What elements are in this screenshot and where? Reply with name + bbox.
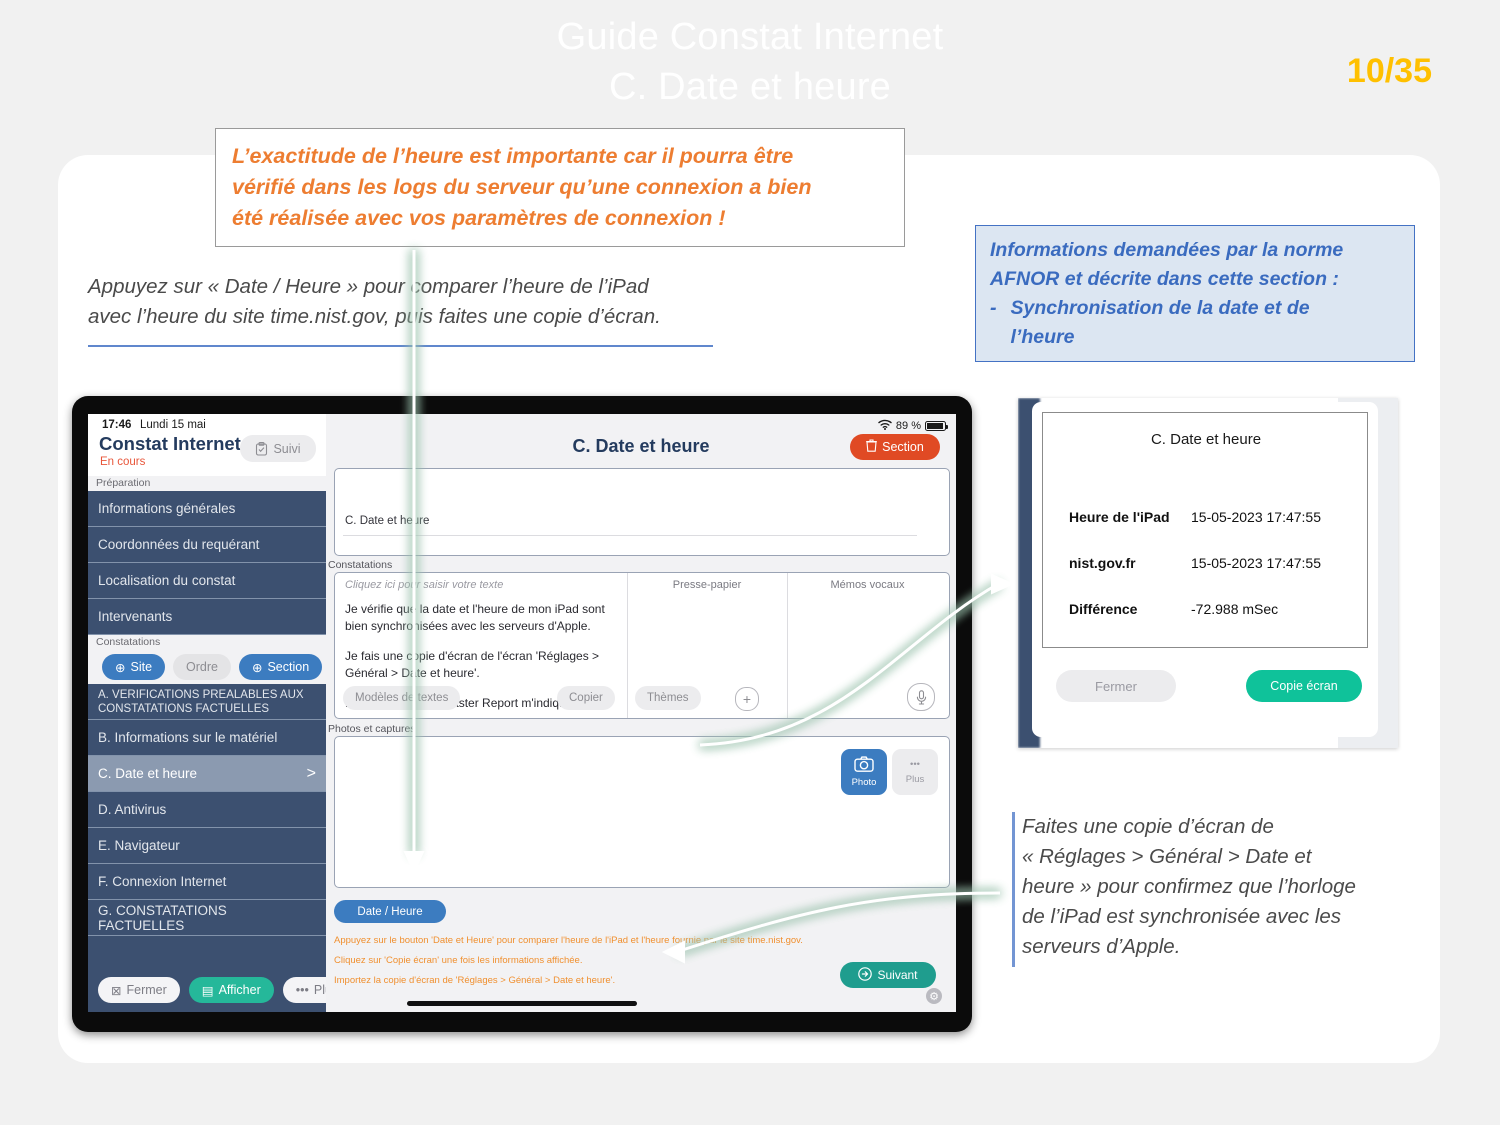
afnor-bullet-line-2: l’heure [1011,323,1310,352]
add-site-label: Site [130,660,152,674]
constatations-paragraph-2: Je fais une copie d'écran de l'écran 'Ré… [345,648,620,682]
afficher-label: Afficher [219,983,261,997]
modeles-textes-button[interactable]: Modèles de textes [343,686,460,710]
hint-line-1: Appuyez sur le bouton 'Date et Heure' po… [334,935,934,946]
trash-icon [866,439,877,455]
sidebar-item-label: E. Navigateur [98,838,180,853]
status-indicators: 89 % [878,419,946,433]
page-number-badge: 10/35 [1347,52,1432,91]
right-instruction-line-4: de l’iPad est synchronisée avec les [1022,902,1422,932]
sidebar-item-label: F. Connexion Internet [98,874,226,889]
column-divider [627,573,628,718]
sidebar-item-c-date-et-heure[interactable]: C. Date et heure > [88,756,326,792]
sidebar-item-localisation-constat[interactable]: Localisation du constat [88,563,326,599]
sidebar-header: 17:46 Lundi 15 mai Constat Internet En c… [88,414,326,476]
sidebar-item-b-materiel[interactable]: B. Informations sur le matériel [88,720,326,756]
app-title: Constat Internet [99,433,241,455]
section-title-field-box[interactable]: C. Date et heure [334,468,950,556]
suivant-label: Suivant [877,968,917,982]
sidebar-item-f-connexion-internet[interactable]: F. Connexion Internet [88,864,326,900]
app-status-label: En cours [100,456,145,468]
text-placeholder[interactable]: Cliquez ici pour saisir votre texte [345,579,503,591]
afnor-info-box: Informations demandées par la norme AFNO… [975,225,1415,362]
status-date: Lundi 15 mai [140,419,206,431]
sidebar-item-informations-generales[interactable]: Informations générales [88,491,326,527]
sidebar-item-label: D. Antivirus [98,802,166,817]
warning-callout-box: L’exactitude de l’heure est importante c… [215,128,905,247]
sidebar-item-e-navigateur[interactable]: E. Navigateur [88,828,326,864]
constatations-label: Constatations [328,559,392,571]
afnor-bullet: - Synchronisation de la date et de l’heu… [990,294,1400,352]
dialog-content-frame: C. Date et heure Heure de l'iPad 15-05-2… [1042,412,1368,648]
ipad-main-pane: 89 % C. Date et heure Section C. Date et… [326,414,956,1012]
photos-captures-label: Photos et captures [328,723,416,735]
themes-button[interactable]: Thèmes [635,686,701,710]
suivant-button[interactable]: Suivant [840,962,936,988]
add-clipboard-icon[interactable]: + [735,687,759,711]
ipad-sidebar: 17:46 Lundi 15 mai Constat Internet En c… [88,414,326,1012]
left-instruction-text: Appuyez sur « Date / Heure » pour compar… [88,272,738,332]
date-heure-button[interactable]: Date / Heure [334,900,446,923]
delete-section-button[interactable]: Section [850,434,940,460]
afnor-line-2: AFNOR et décrite dans cette section : [990,265,1400,294]
sidebar-item-intervenants[interactable]: Intervenants [88,599,326,635]
right-instruction-line-2: « Réglages > Général > Date et [1022,842,1422,872]
constatations-paragraph-1: Je vérifie que la date et l'heure de mon… [345,601,620,635]
afficher-button[interactable]: ▤ Afficher [189,977,274,1003]
status-time: 17:46 [102,419,131,431]
right-instruction-line-5: serveurs d’Apple. [1022,932,1422,962]
ordre-label: Ordre [186,660,218,674]
sidebar-item-label: C. Date et heure [98,766,197,781]
plus-circle-icon: ⊕ [252,660,262,675]
dialog-row-value: 15-05-2023 17:47:55 [1191,509,1321,525]
camera-icon [854,756,874,775]
sidebar-section-preparation: Préparation [88,476,326,491]
dialog-title: C. Date et heure [1043,431,1369,448]
plus-circle-icon: ⊕ [115,660,125,675]
field-underline [343,535,917,536]
dialog-copy-screen-button[interactable]: Copie écran [1246,670,1362,702]
afnor-line-1: Informations demandées par la norme [990,236,1400,265]
left-instruction-line-2: avec l’heure du site time.nist.gov, puis… [88,302,738,332]
ipad-device-frame: 17:46 Lundi 15 mai Constat Internet En c… [72,396,972,1032]
page-title-line1: Guide Constat Internet [557,16,944,58]
suivi-label: Suivi [273,442,300,456]
right-instruction-text: Faites une copie d’écran de « Réglages >… [1022,812,1422,962]
date-time-dialog: C. Date et heure Heure de l'iPad 15-05-2… [1032,402,1378,737]
battery-icon [925,421,946,431]
sidebar-item-g-constatations-factuelles[interactable]: G. CONSTATATIONS FACTUELLES [88,900,326,936]
warning-line-1: L’exactitude de l’heure est importante c… [232,141,888,172]
add-site-button[interactable]: ⊕ Site [102,654,165,680]
right-instruction-accent-bar [1012,812,1015,967]
afnor-bullet-dash: - [990,294,997,352]
dialog-screenshot: C. Date et heure Heure de l'iPad 15-05-2… [1018,398,1398,748]
fermer-label: Fermer [126,983,166,997]
suivi-button[interactable]: Suivi [240,435,316,462]
close-box-icon: ⊠ [111,983,121,998]
photo-button-label: Photo [852,777,877,788]
page-header: Guide Constat Internet C. Date et heure … [0,4,1500,119]
sidebar-toolbar: ⊕ Site Ordre ⊕ Section [88,650,326,684]
delete-section-label: Section [882,440,924,454]
chevron-right-icon: > [307,765,316,783]
sidebar-item-coordonnees-requerant[interactable]: Coordonnées du requérant [88,527,326,563]
page-title-line2: C. Date et heure [0,62,1500,112]
photos-plus-label: Plus [906,774,924,785]
dialog-row-key: Différence [1069,601,1137,617]
page-title: Guide Constat Internet C. Date et heure [0,12,1500,112]
microphone-icon[interactable] [907,683,935,711]
warning-line-2: vérifié dans les logs du serveur qu’une … [232,172,888,203]
column-divider [787,573,788,718]
right-instruction-line-3: heure » pour confirmez que l’horloge [1022,872,1422,902]
ellipsis-icon: ••• [296,983,309,997]
document-icon: ▤ [202,983,214,998]
clipboard-icon [255,442,268,456]
memos-vocaux-header: Mémos vocaux [787,579,948,591]
left-instruction-underline [88,345,713,347]
right-instruction-line-1: Faites une copie d’écran de [1022,812,1422,842]
sidebar-item-d-antivirus[interactable]: D. Antivirus [88,792,326,828]
sidebar-section-constatations: Constatations [88,635,326,650]
warning-line-3: été réalisée avec vos paramètres de conn… [232,203,888,234]
sidebar-item-label: B. Informations sur le matériel [98,730,277,745]
battery-percent: 89 % [896,420,921,432]
ipad-screen: 17:46 Lundi 15 mai Constat Internet En c… [88,414,956,1012]
dialog-row-value: 15-05-2023 17:47:55 [1191,555,1321,571]
dialog-row-key: nist.gov.fr [1069,555,1136,571]
presse-papier-header: Presse-papier [627,579,787,591]
afnor-bullet-line-1: Synchronisation de la date et de [1011,294,1310,323]
gear-icon[interactable]: ⚙ [926,988,942,1004]
photo-button[interactable]: Photo [841,749,887,795]
photos-captures-box: Photo ••• Plus [334,736,950,888]
dialog-close-button[interactable]: Fermer [1056,670,1176,702]
ordre-button[interactable]: Ordre [173,654,231,680]
sidebar-item-a-verifications[interactable]: A. VERIFICATIONS PREALABLES AUX CONSTATA… [88,684,326,720]
add-section-label: Section [267,660,309,674]
fermer-button[interactable]: ⊠ Fermer [98,977,180,1003]
photos-plus-button[interactable]: ••• Plus [892,749,938,795]
sidebar-bottom-bar: ⊠ Fermer ▤ Afficher ••• Plus [88,968,326,1012]
section-title-field-label: C. Date et heure [345,515,429,527]
arrow-right-circle-icon [858,967,872,984]
home-indicator [407,1001,637,1006]
left-instruction-line-1: Appuyez sur « Date / Heure » pour compar… [88,272,738,302]
add-section-button[interactable]: ⊕ Section [239,654,322,680]
ellipsis-icon: ••• [910,759,920,770]
dialog-row-value: -72.988 mSec [1191,601,1278,617]
sidebar-item-label: G. CONSTATATIONS FACTUELLES [98,903,316,933]
dialog-row-key: Heure de l'iPad [1069,509,1170,525]
copier-button[interactable]: Copier [557,686,615,710]
sidebar-item-label: A. VERIFICATIONS PREALABLES AUX CONSTATA… [98,688,316,716]
constatations-box: Cliquez ici pour saisir votre texte Pres… [334,572,950,719]
wifi-icon [878,419,892,433]
